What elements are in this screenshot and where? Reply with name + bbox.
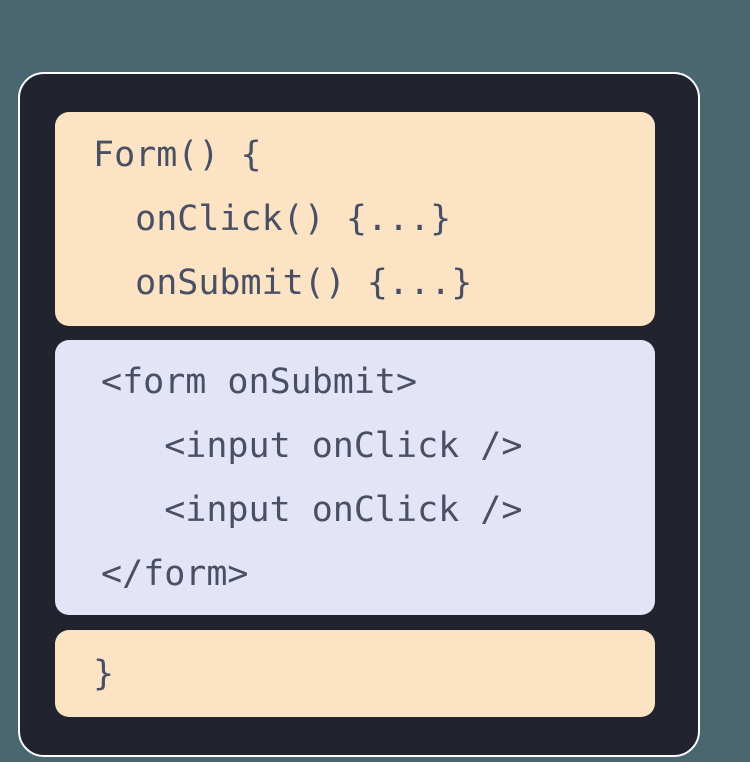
code-panel-function-head: Form() { onClick() {...} onSubmit() {...… — [55, 112, 655, 326]
code-panel-function-tail: } — [55, 630, 655, 717]
code-line: Form() { — [55, 123, 655, 187]
code-card: Form() { onClick() {...} onSubmit() {...… — [18, 72, 700, 757]
code-line: <input onClick /> — [55, 414, 655, 478]
code-line: } — [55, 644, 655, 704]
code-line: </form> — [55, 542, 655, 606]
code-line: <input onClick /> — [55, 478, 655, 542]
code-line: <form onSubmit> — [55, 350, 655, 414]
code-line: onSubmit() {...} — [55, 251, 655, 315]
diagram-root: Form() { onClick() {...} onSubmit() {...… — [0, 0, 750, 762]
code-panel-jsx-markup: <form onSubmit> <input onClick /> <input… — [55, 340, 655, 615]
code-line: onClick() {...} — [55, 187, 655, 251]
